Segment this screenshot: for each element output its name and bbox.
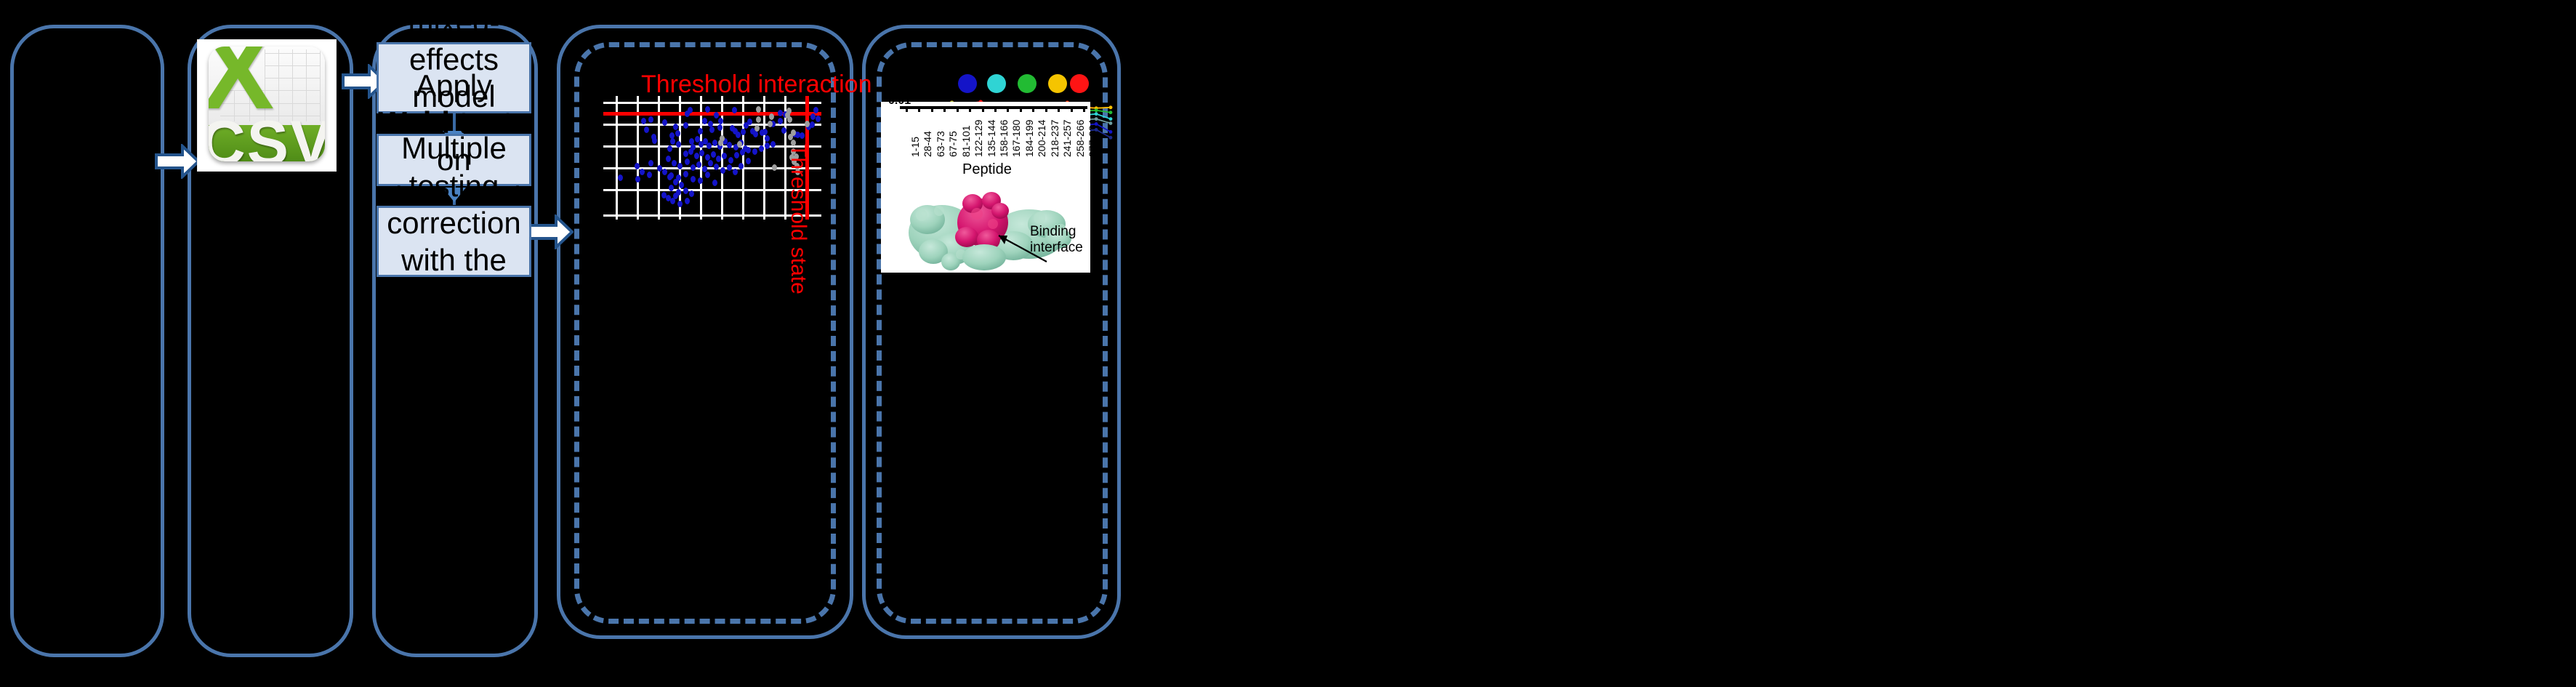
csv-file-icon: X CSV (198, 40, 336, 171)
peptide-tick (982, 106, 984, 112)
line-series-point (1109, 130, 1113, 134)
peptide-tick (1071, 106, 1073, 112)
csv-icon-card: X CSV (209, 47, 325, 161)
threshold-state-label: Threshold state (786, 144, 810, 294)
arrow-methods-to-scatter (528, 214, 573, 249)
legend-dot-2 (987, 74, 1006, 93)
line-series-point (1109, 117, 1113, 121)
csv-icon-letter: X (214, 48, 262, 93)
peptide-tick-label: 67-75 (947, 131, 959, 157)
arrow-input-to-csv (155, 144, 200, 179)
binding-interface-line2: interface (1030, 240, 1083, 255)
results-figure-card: 0.01 1-1528-4463-7367-7581-101122-129135… (881, 102, 1090, 273)
peptide-tick (906, 106, 908, 112)
peptide-tick-label: 135-144 (986, 120, 997, 157)
binding-interface-line1: Binding (1030, 224, 1076, 239)
panel-input (10, 25, 164, 657)
peptide-tick-label: 277-284 (1087, 120, 1090, 157)
peptide-tick (1045, 106, 1047, 112)
csv-icon-band: CSV (209, 125, 325, 162)
line-series-point (1109, 111, 1113, 114)
threshold-interaction-label: Threshold interaction (641, 71, 872, 99)
peptide-axis-title: Peptide (962, 161, 1012, 178)
csv-icon-label: CSV (209, 108, 325, 162)
line-series-point (1109, 136, 1113, 140)
gridline-h (603, 102, 821, 104)
line-series-point (1095, 108, 1098, 112)
peptide-tick-label: 28-44 (922, 131, 933, 157)
binding-interface-label: Binding interface (1030, 224, 1083, 256)
peptide-tick-label: 218-237 (1049, 120, 1060, 157)
peptide-tick-label: 81-101 (960, 125, 972, 157)
peptide-tick-label: 63-73 (935, 131, 946, 157)
peptide-tick (1083, 106, 1085, 112)
legend-dot-5 (1070, 74, 1089, 93)
peptide-tick-label: 200-214 (1036, 120, 1047, 157)
peptide-tick (1020, 106, 1022, 112)
peptide-tick (994, 106, 997, 112)
line-series-point (1095, 122, 1098, 126)
scatter-figure: Threshold interaction (596, 65, 821, 240)
peptide-tick-label: 167-180 (1010, 120, 1022, 157)
step-bh-box[interactable]: Multiple testingcorrectionwith the BH pr… (377, 206, 531, 277)
peptide-tick (1007, 106, 1009, 112)
peptide-tick (969, 106, 971, 112)
line-series-point (1095, 112, 1098, 116)
peptide-tick (918, 106, 920, 112)
peptide-tick-label: 258-266 (1074, 120, 1086, 157)
peptide-tick (957, 106, 959, 112)
peptide-tick-label: 241-257 (1061, 120, 1073, 157)
peptide-tick (931, 106, 933, 112)
peptide-tick-label: 122-129 (973, 120, 984, 157)
peptide-tick (943, 106, 946, 112)
legend-dot-4 (1048, 74, 1067, 93)
legend-dot-3 (1018, 74, 1037, 93)
peptide-tick-label: 184-199 (1023, 120, 1035, 157)
peptide-tick-label: 158-166 (998, 120, 1010, 157)
step-bh-text: Multiple testingcorrectionwith the BH pr… (385, 129, 523, 353)
line-series-point (1095, 117, 1098, 121)
legend-dot-1 (958, 74, 977, 93)
peptide-tick (1032, 106, 1034, 112)
line-series-point (1095, 128, 1098, 132)
peptide-tick (1058, 106, 1060, 112)
peptide-tick-label: 1-15 (909, 137, 921, 157)
line-series-point (1109, 121, 1113, 125)
line-series-point (1109, 105, 1113, 109)
